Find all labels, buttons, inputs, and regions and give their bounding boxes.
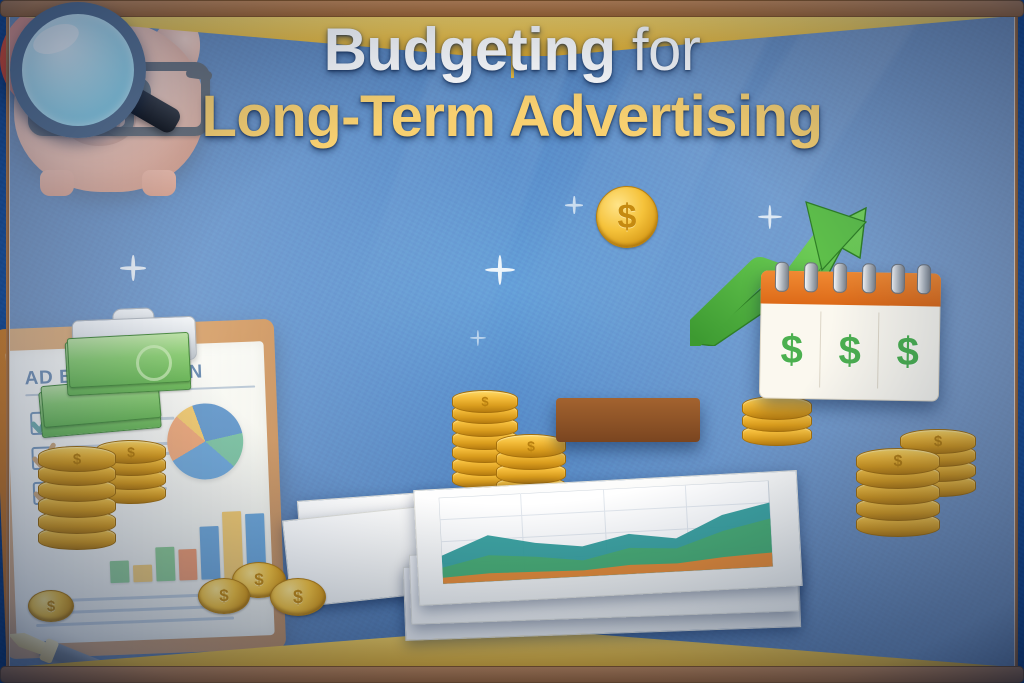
coin-dollar-symbol: $	[29, 591, 73, 621]
coin-stack-right-a: $	[856, 428, 940, 558]
hourglass-cap-bottom	[0, 666, 1024, 683]
coin-dollar-symbol: $	[481, 394, 488, 409]
illustration-canvas: Budgeting for Long-Term Advertising $ $	[0, 0, 1024, 683]
coin-stack-left-tall: $	[38, 430, 116, 565]
coin-dollar-symbol: $	[271, 579, 325, 615]
piggy-drop-coin: $	[596, 186, 658, 248]
coin-dollar-symbol: $	[199, 579, 249, 613]
coin-disc-top: $	[38, 446, 116, 472]
calendar-ring	[833, 263, 848, 293]
coin-disc-top	[742, 396, 812, 420]
calendar-ring	[891, 264, 906, 294]
calendar-cell-3: $	[881, 315, 934, 390]
coin-dollar-symbol: $	[127, 444, 135, 460]
calendar-ring	[775, 262, 790, 292]
title-line-1: Budgeting for	[0, 18, 1024, 83]
loose-coin-4: $	[28, 590, 74, 622]
area-chart	[439, 478, 803, 606]
title-light-word: for	[632, 16, 701, 83]
piggy-pedestal	[556, 398, 700, 442]
calendar-ring	[804, 262, 819, 292]
hourglass-cap-top	[0, 0, 1024, 17]
coin-disc-top: $	[856, 448, 940, 475]
title-bold-word: Budgeting	[324, 16, 616, 83]
bill-stack-upper-2	[67, 332, 191, 388]
coin-dollar-symbol: $	[73, 451, 81, 468]
coin-dollar-symbol: $	[894, 453, 903, 471]
document-stack-sheet-1	[413, 470, 803, 606]
title-block: Budgeting for Long-Term Advertising	[0, 18, 1024, 150]
coin-dollar-symbol: $	[597, 187, 657, 247]
title-line-2: Long-Term Advertising	[0, 85, 1024, 150]
calendar-cell-2: $	[823, 314, 876, 389]
loose-coin-3: $	[270, 578, 326, 616]
calendar-ring	[917, 264, 932, 294]
calendar: $ $ $	[759, 270, 941, 401]
calendar-cell-1: $	[765, 313, 818, 388]
coin-dollar-symbol: $	[527, 438, 535, 454]
loose-coin-1: $	[198, 578, 250, 614]
calendar-ring	[862, 263, 877, 293]
bill-dollar-mark	[136, 345, 172, 381]
